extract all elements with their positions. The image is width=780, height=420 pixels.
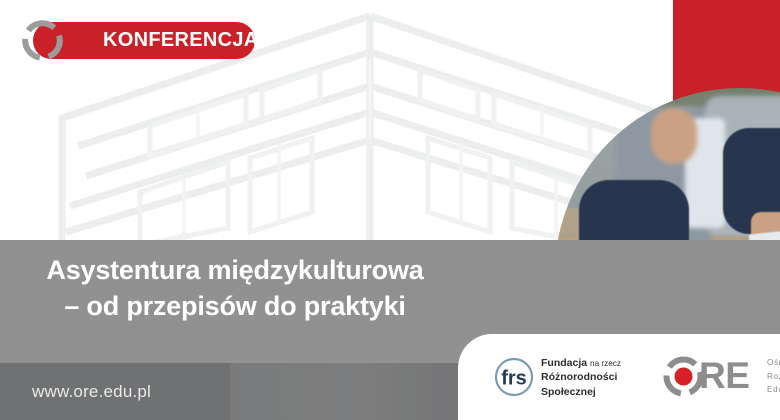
frs-line-1-bold: Fundacja (541, 357, 590, 369)
conference-banner: Asystentura międzykulturowa – od przepis… (0, 0, 780, 420)
svg-text:frs: frs (501, 368, 527, 390)
frs-line-3: Społecznej (541, 385, 621, 399)
ore-wordmark: RE (699, 353, 749, 399)
website-url[interactable]: www.ore.edu.pl (32, 382, 151, 402)
ore-tagline: Ośrodek Rozwoju Edukacji (767, 356, 780, 397)
ore-logo: RE Ośrodek Rozwoju Edukacji (663, 351, 780, 403)
frs-logo: frs Fundacja na rzecz Różnorodności Społ… (494, 352, 669, 402)
konferencja-badge: KONFERENCJA (33, 22, 255, 59)
frs-mark-icon: frs (494, 357, 534, 397)
logos-panel: frs Fundacja na rzecz Różnorodności Społ… (458, 334, 780, 420)
ring-dot-icon (22, 20, 63, 61)
frs-line-1: Fundacja na rzecz (541, 356, 621, 370)
footer-photo-tint (230, 363, 480, 420)
ore-ring-dot-icon (663, 356, 704, 397)
ore-tagline-3: Edukacji (767, 383, 780, 397)
ore-tagline-1: Ośrodek (767, 356, 780, 370)
title-line-2: – od przepisów do praktyki (0, 288, 470, 324)
frs-wordmark: Fundacja na rzecz Różnorodności Społeczn… (541, 356, 621, 399)
page-title: Asystentura międzykulturowa – od przepis… (0, 252, 470, 324)
frs-line-1-thin: na rzecz (590, 359, 621, 368)
ore-tagline-2: Rozwoju (767, 370, 780, 384)
konferencja-badge-label: KONFERENCJA (103, 22, 259, 59)
frs-line-2: Różnorodności (541, 370, 621, 384)
title-line-1: Asystentura międzykulturowa (46, 255, 423, 285)
